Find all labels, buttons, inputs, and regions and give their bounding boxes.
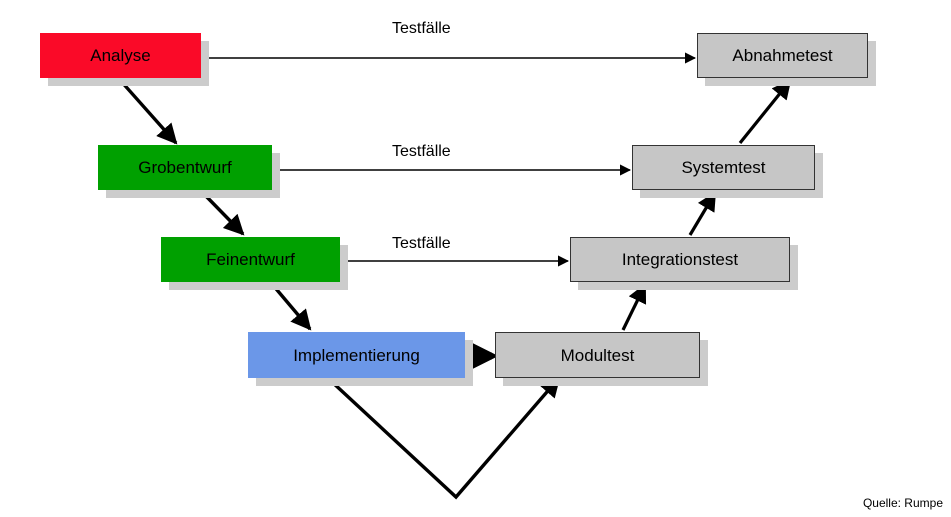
node-analyse[interactable]: Analyse	[40, 33, 201, 78]
edge-modultest-to-integrationstest	[623, 285, 645, 330]
node-abnahmetest[interactable]: Abnahmetest	[697, 33, 868, 78]
edge-label-testfaelle-analyse: Testfälle	[392, 20, 451, 38]
node-label: Systemtest	[677, 159, 769, 176]
node-modultest[interactable]: Modultest	[495, 332, 700, 378]
node-label: Implementierung	[289, 347, 424, 364]
node-label: Analyse	[86, 47, 154, 64]
node-label: Abnahmetest	[728, 47, 836, 64]
edge-analyse-to-grobentwurf	[120, 80, 176, 143]
edge-label-testfaelle-feinentwurf: Testfälle	[392, 235, 451, 253]
v-model-diagram: Analyse Grobentwurf Feinentwurf Implemen…	[0, 0, 951, 517]
node-label: Integrationstest	[618, 251, 742, 268]
node-implementierung[interactable]: Implementierung	[248, 332, 465, 378]
node-label: Modultest	[557, 347, 639, 364]
node-integrationstest[interactable]: Integrationstest	[570, 237, 790, 282]
node-systemtest[interactable]: Systemtest	[632, 145, 815, 190]
edge-label-testfaelle-grobentwurf: Testfälle	[392, 143, 451, 161]
edge-systemtest-to-abnahmetest	[740, 81, 790, 143]
edge-integrationstest-to-systemtest	[690, 193, 715, 235]
source-note: Quelle: Rumpe	[863, 496, 943, 510]
node-label: Grobentwurf	[134, 159, 236, 176]
edge-grobentwurf-to-feinentwurf	[202, 192, 243, 234]
node-grobentwurf[interactable]: Grobentwurf	[98, 145, 272, 190]
edge-v-bottom	[331, 378, 559, 497]
node-feinentwurf[interactable]: Feinentwurf	[161, 237, 340, 282]
node-label: Feinentwurf	[202, 251, 299, 268]
edge-feinentwurf-to-implementierung	[272, 284, 310, 329]
